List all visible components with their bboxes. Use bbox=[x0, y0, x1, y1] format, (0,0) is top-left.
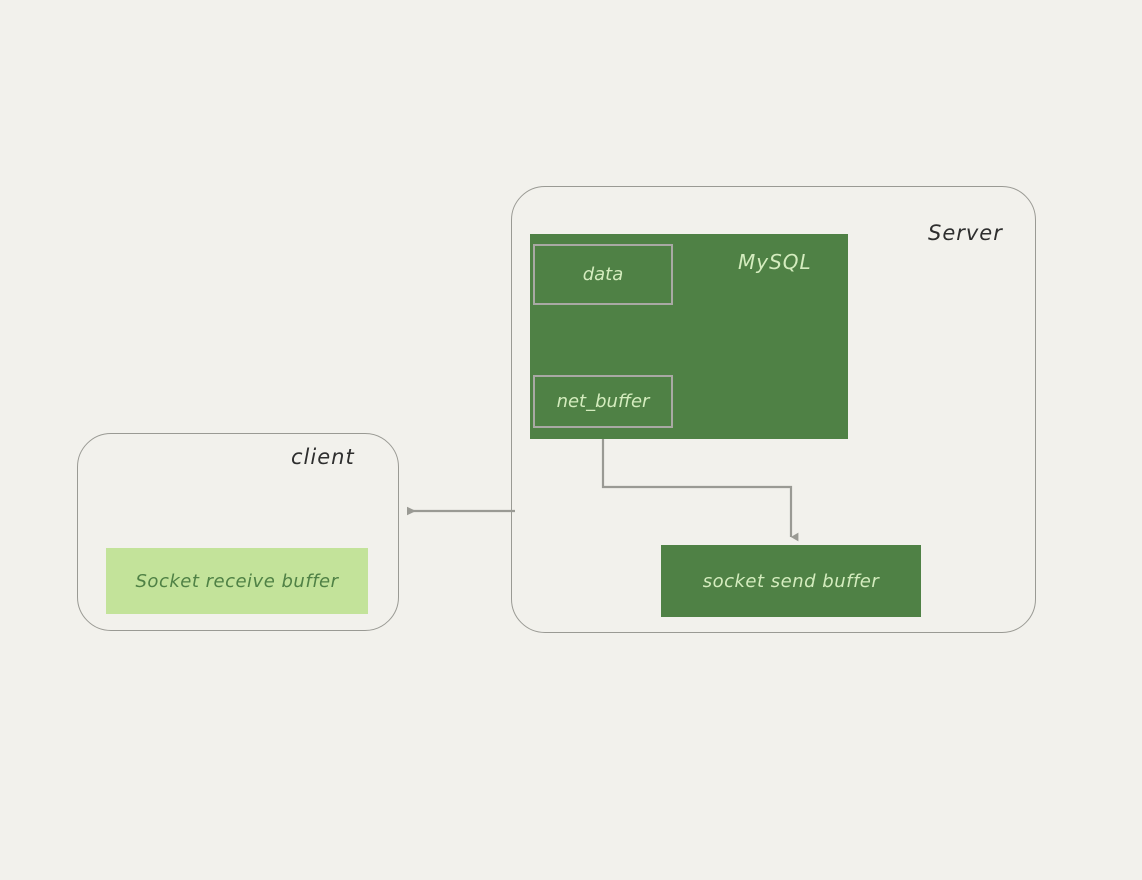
mysql-region-label: MySQL bbox=[738, 250, 812, 274]
node-socket-receive-buffer[interactable]: Socket receive buffer bbox=[106, 548, 368, 614]
client-container-label: client bbox=[291, 445, 355, 469]
node-net-buffer[interactable]: net_buffer bbox=[533, 375, 673, 428]
node-socket-receive-buffer-label: Socket receive buffer bbox=[136, 571, 339, 592]
node-data[interactable]: data bbox=[533, 244, 673, 305]
node-socket-send-buffer-label: socket send buffer bbox=[703, 571, 880, 592]
node-net-buffer-label: net_buffer bbox=[557, 391, 650, 412]
server-container-label: Server bbox=[928, 221, 1003, 245]
node-socket-send-buffer[interactable]: socket send buffer bbox=[661, 545, 921, 617]
diagram-canvas: Server MySQL data net_buffer socket send… bbox=[0, 0, 1142, 880]
node-data-label: data bbox=[583, 264, 624, 285]
